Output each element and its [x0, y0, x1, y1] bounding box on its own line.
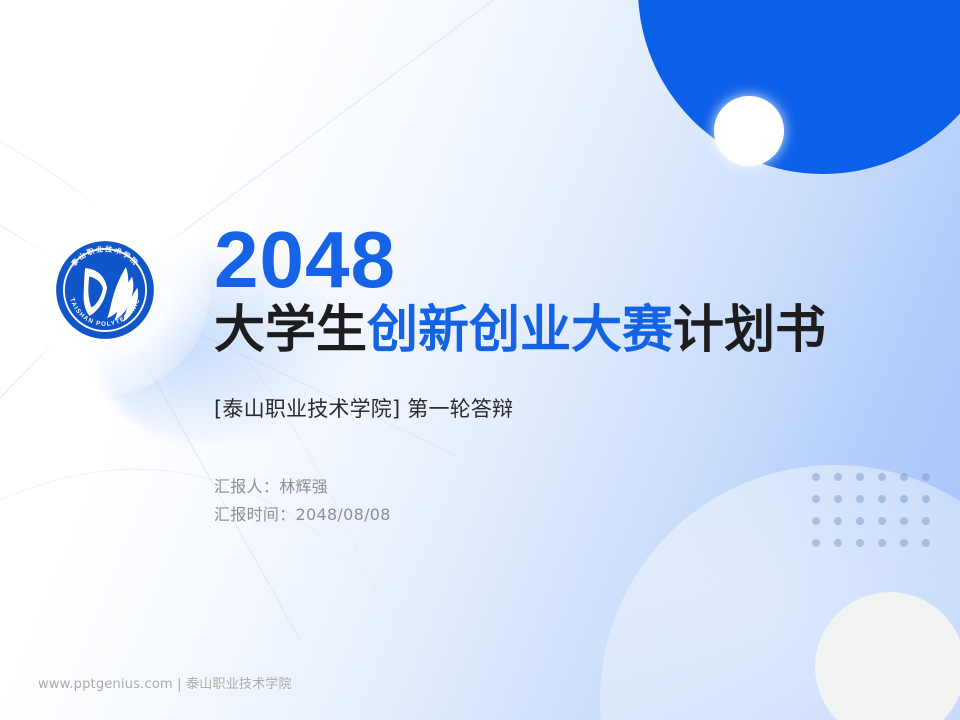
year-heading: 2048	[214, 222, 826, 298]
decorative-white-circle-bottom-icon	[815, 592, 960, 720]
date-line: 汇报时间：2048/08/08	[214, 501, 826, 529]
decorative-blue-circle-icon	[638, 0, 960, 174]
page-title: 大学生创新创业大赛计划书	[214, 302, 826, 359]
presentation-meta: 汇报人：林辉强 汇报时间：2048/08/08	[214, 473, 826, 528]
title-block: 2048 大学生创新创业大赛计划书 [泰山职业技术学院] 第一轮答辩 汇报人：林…	[214, 222, 826, 528]
presenter-line: 汇报人：林辉强	[214, 473, 826, 501]
headline-part-1: 大学生	[214, 301, 367, 360]
subtitle: [泰山职业技术学院] 第一轮答辩	[214, 393, 826, 423]
dot-grid-icon	[812, 473, 944, 561]
headline-part-2: 创新创业大赛	[367, 301, 673, 360]
headline-part-3: 计划书	[673, 301, 826, 360]
footer-credit: www.pptgenius.com | 泰山职业技术学院	[38, 673, 292, 692]
presentation-slide: 泰山职业技术学院 TAISHAN POLYTECHNIC 2048 大学生创新创…	[0, 0, 960, 720]
taishan-polytechnic-logo-icon: 泰山职业技术学院 TAISHAN POLYTECHNIC	[53, 238, 157, 342]
decorative-white-dot-icon	[714, 96, 784, 166]
